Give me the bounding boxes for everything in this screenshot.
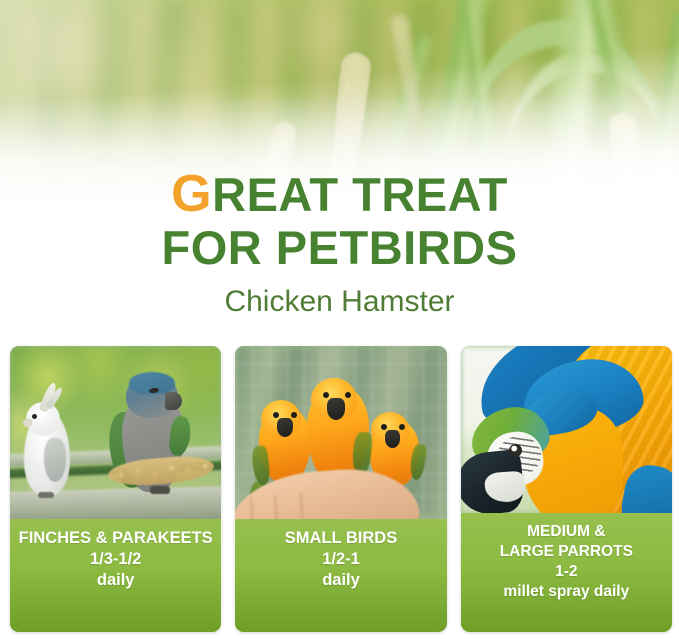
senegal-parrot-foot [150,486,170,494]
card-small-birds: SMALL BIRDS 1/2-1 daily [235,346,446,632]
card-label-small-birds: SMALL BIRDS 1/2-1 daily [235,519,446,632]
cockatiel-foot [38,492,54,498]
senegal-parrot-beak [165,392,182,410]
card-photo-medium-large-parrots [461,346,672,513]
headline-line-2: FOR PETBIRDS [0,221,679,274]
card-label-line: FINCHES & PARAKEETS [14,528,217,549]
headline-line-1-rest: REAT TREAT [212,168,508,221]
cockatiel-beak [23,419,32,427]
card-label-medium-large-parrots: MEDIUM & LARGE PARROTS 1-2 millet spray … [461,513,672,632]
cockatiel-eye [32,414,37,419]
macaw-eye [509,444,522,457]
card-finches-parakeets: FINCHES & PARAKEETS 1/3-1/2 daily [10,346,221,632]
card-label-line: MEDIUM & [465,522,668,542]
card-label-line: SMALL BIRDS [239,528,442,549]
card-label-line: 1-2 [465,562,668,582]
headline-accent-letter: G [171,165,212,223]
card-photo-finches-parakeets [10,346,221,519]
card-label-finches-parakeets: FINCHES & PARAKEETS 1/3-1/2 daily [10,519,221,632]
cockatiel-wing [44,438,66,482]
headline-line-1: GREAT TREAT [0,168,679,221]
card-label-line: daily [14,570,217,591]
card-photo-small-birds [235,346,446,519]
card-label-line: 1/2-1 [239,549,442,570]
card-medium-large-parrots: MEDIUM & LARGE PARROTS 1-2 millet spray … [461,346,672,632]
feeding-guide-cards: FINCHES & PARAKEETS 1/3-1/2 daily [10,346,672,632]
card-label-line: LARGE PARROTS [465,542,668,562]
brand-subtitle: Chicken Hamster [0,284,679,320]
card-label-line: millet spray daily [465,582,668,602]
product-poster: GREAT TREAT FOR PETBIRDS Chicken Hamster [0,0,679,639]
title-block: GREAT TREAT FOR PETBIRDS Chicken Hamster [0,168,679,320]
card-label-line: daily [239,570,442,591]
card-label-line: 1/3-1/2 [14,549,217,570]
